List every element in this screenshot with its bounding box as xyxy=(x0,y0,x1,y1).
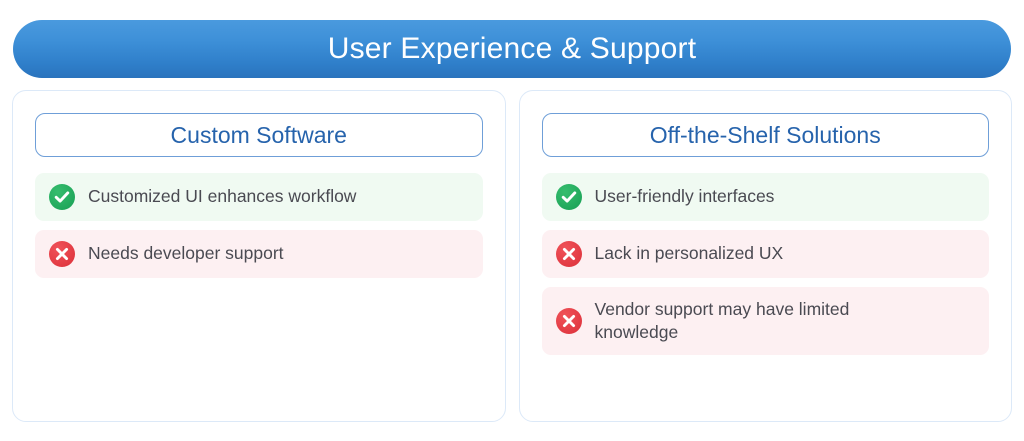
page-title: User Experience & Support xyxy=(328,34,697,64)
cross-circle-icon xyxy=(556,241,582,267)
list-item: User-friendly interfaces xyxy=(542,173,990,221)
card-title-label: Off-the-Shelf Solutions xyxy=(650,124,881,147)
list-item: Customized UI enhances workflow xyxy=(35,173,483,221)
page-header-banner: User Experience & Support xyxy=(13,20,1011,78)
list-item-label: Customized UI enhances workflow xyxy=(88,185,356,208)
list-item: Vendor support may have limited knowledg… xyxy=(542,287,990,355)
check-circle-icon xyxy=(556,184,582,210)
list-item-label: Vendor support may have limited knowledg… xyxy=(595,298,895,344)
card-item-list: User-friendly interfaces Lack in persona… xyxy=(542,173,990,355)
card-title-label: Custom Software xyxy=(171,124,347,147)
card-title-box: Custom Software xyxy=(35,113,483,157)
list-item: Needs developer support xyxy=(35,230,483,278)
comparison-card-custom-software: Custom Software Customized UI enhances w… xyxy=(12,90,506,422)
list-item-label: User-friendly interfaces xyxy=(595,185,775,208)
cross-circle-icon xyxy=(556,308,582,334)
cross-circle-icon xyxy=(49,241,75,267)
list-item-label: Lack in personalized UX xyxy=(595,242,784,265)
comparison-card-off-the-shelf-solutions: Off-the-Shelf Solutions User-friendly in… xyxy=(519,90,1013,422)
card-item-list: Customized UI enhances workflow Needs de… xyxy=(35,173,483,278)
list-item-label: Needs developer support xyxy=(88,242,284,265)
list-item: Lack in personalized UX xyxy=(542,230,990,278)
card-title-box: Off-the-Shelf Solutions xyxy=(542,113,990,157)
comparison-columns: Custom Software Customized UI enhances w… xyxy=(12,90,1012,422)
check-circle-icon xyxy=(49,184,75,210)
